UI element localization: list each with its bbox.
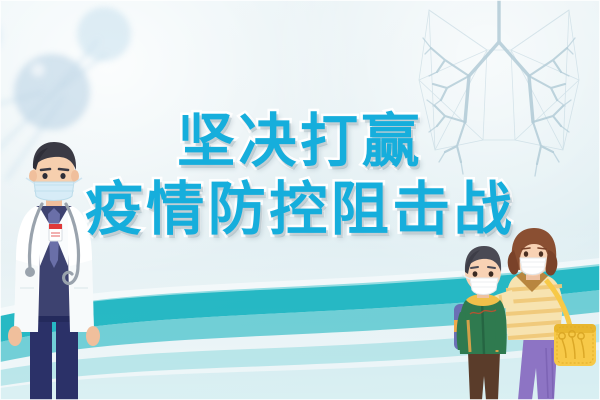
woman-eye-right [539, 251, 543, 257]
doctor-eye-right [60, 173, 65, 179]
woman-mask [520, 258, 546, 275]
boy-figure [454, 246, 507, 400]
lungs-wireframe-icon [391, 0, 600, 205]
boy-pants [468, 352, 500, 400]
boy-mask [470, 278, 498, 295]
doctor-hand-right [86, 326, 100, 346]
boy-eye-right [489, 271, 494, 277]
doctor-figure [0, 136, 114, 400]
doctor-hand-left [8, 326, 22, 346]
boy-eye-left [473, 271, 478, 277]
molecule-atom-large [14, 54, 90, 130]
molecule-atom-small [0, 16, 2, 56]
molecule-atom-medium [77, 7, 131, 61]
woman-and-boy-figures [454, 228, 600, 400]
poster-canvas: 坚决打赢 疫情防控阻击战 [0, 0, 600, 400]
doctor-eye-left [42, 173, 47, 179]
stethoscope-chestpiece [25, 267, 35, 277]
woman-eye-left [524, 251, 528, 257]
